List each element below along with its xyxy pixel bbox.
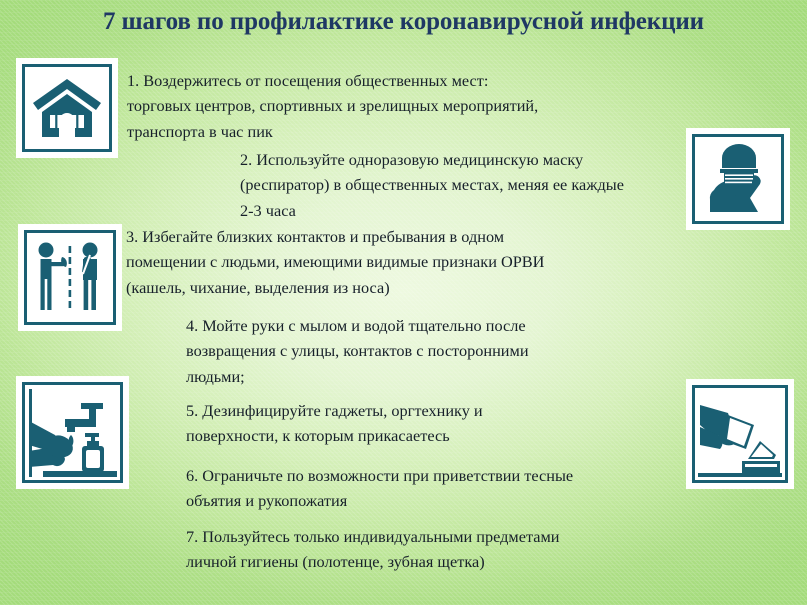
step-7-line-1: 7. Пользуйтесь только индивидуальными пр… <box>186 524 638 549</box>
step-4-text: 4. Мойте руки с мылом и водой тщательно … <box>186 313 638 389</box>
step-1-line-2: торговых центров, спортивных и зрелищных… <box>127 93 685 118</box>
step-6-text: 6. Ограничьте по возможности при приветс… <box>186 463 638 514</box>
step-4-line-3: людьми; <box>186 364 638 389</box>
step-3-line-3: (кашель, чихание, выделения из носа) <box>126 275 682 300</box>
infographic-slide: 7 шагов по профилактике коронавирусной и… <box>0 0 807 605</box>
step-3-line-1: 3. Избегайте близких контактов и пребыва… <box>126 224 682 249</box>
tissue-box-icon <box>692 385 788 483</box>
step-3-line-2: помещении с людьми, имеющими видимые при… <box>126 249 682 274</box>
step-7-text: 7. Пользуйтесь только индивидуальными пр… <box>186 524 638 575</box>
step-1-line-3: транспорта в час пик <box>127 119 685 144</box>
step-5-line-1: 5. Дезинфицируйте гаджеты, оргтехнику и <box>186 398 638 423</box>
step-2-line-3: 2-3 часа <box>240 198 686 223</box>
masked-person-icon <box>692 134 784 224</box>
handwashing-icon-frame <box>16 376 129 489</box>
step-1-text: 1. Воздержитесь от посещения общественны… <box>127 68 685 144</box>
social-distance-icon <box>24 230 116 325</box>
handwashing-icon <box>22 382 123 483</box>
step-2-text: 2. Используйте одноразовую медицинскую м… <box>240 147 686 223</box>
step-5-text: 5. Дезинфицируйте гаджеты, оргтехнику и … <box>186 398 638 449</box>
house-icon-frame <box>16 58 118 158</box>
step-1-line-1: 1. Воздержитесь от посещения общественны… <box>127 68 685 93</box>
step-5-line-2: поверхности, к которым прикасаетесь <box>186 423 638 448</box>
house-icon <box>22 64 112 152</box>
step-2-line-1: 2. Используйте одноразовую медицинскую м… <box>240 147 686 172</box>
step-7-line-2: личной гигиены (полотенце, зубная щетка) <box>186 549 638 574</box>
step-6-line-1: 6. Ограничьте по возможности при приветс… <box>186 463 638 488</box>
tissue-box-icon-frame <box>686 379 794 489</box>
step-4-line-2: возвращения с улицы, контактов с посторо… <box>186 338 638 363</box>
masked-person-icon-frame <box>686 128 790 230</box>
step-3-text: 3. Избегайте близких контактов и пребыва… <box>126 224 682 300</box>
social-distance-icon-frame <box>18 224 122 331</box>
step-2-line-2: (респиратор) в общественных местах, меня… <box>240 172 686 197</box>
page-title: 7 шагов по профилактике коронавирусной и… <box>0 8 807 37</box>
step-4-line-1: 4. Мойте руки с мылом и водой тщательно … <box>186 313 638 338</box>
step-6-line-2: объятия и рукопожатия <box>186 488 638 513</box>
